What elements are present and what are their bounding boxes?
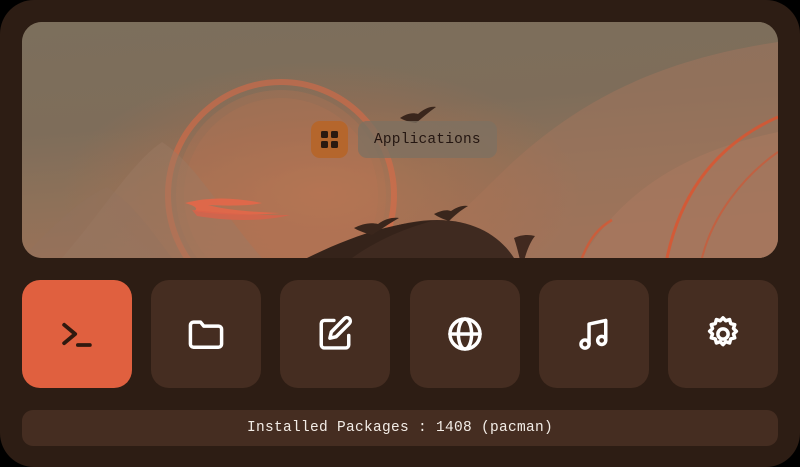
dock-item-settings[interactable]: [668, 280, 778, 388]
applications-button[interactable]: [311, 121, 348, 158]
desktop-screen: Applications: [0, 0, 800, 467]
apps-grid-icon: [321, 131, 338, 148]
music-note-icon: [572, 312, 616, 356]
status-bar: Installed Packages : 1408 (pacman): [22, 410, 778, 446]
applications-label[interactable]: Applications: [358, 121, 497, 158]
dock-item-music[interactable]: [539, 280, 649, 388]
installed-packages-text: Installed Packages : 1408 (pacman): [247, 420, 553, 436]
applications-launcher[interactable]: Applications: [311, 121, 497, 158]
dock-item-editor[interactable]: [280, 280, 390, 388]
text-editor-icon: [313, 312, 357, 356]
folder-icon: [184, 312, 228, 356]
globe-icon: [443, 312, 487, 356]
dock-item-files[interactable]: [151, 280, 261, 388]
terminal-icon: [55, 312, 99, 356]
gear-icon: [701, 312, 745, 356]
dock-item-browser[interactable]: [410, 280, 520, 388]
app-dock: [22, 280, 778, 388]
dock-item-terminal[interactable]: [22, 280, 132, 388]
